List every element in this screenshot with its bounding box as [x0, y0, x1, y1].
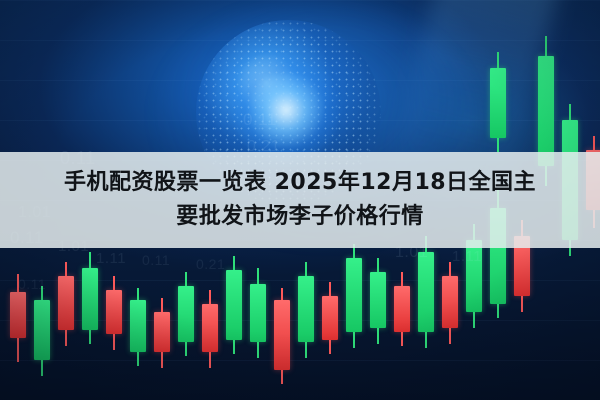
headline-line-1: 手机配资股票一览表 2025年12月18日全国主 [64, 166, 536, 200]
headline-banner: 手机配资股票一览表 2025年12月18日全国主 要批发市场李子价格行情 [0, 152, 600, 248]
screenshot-root: 0.110.210.111.010.111.011.110.110.211.01… [0, 0, 600, 400]
headline-line-2: 要批发市场李子价格行情 [176, 200, 424, 234]
